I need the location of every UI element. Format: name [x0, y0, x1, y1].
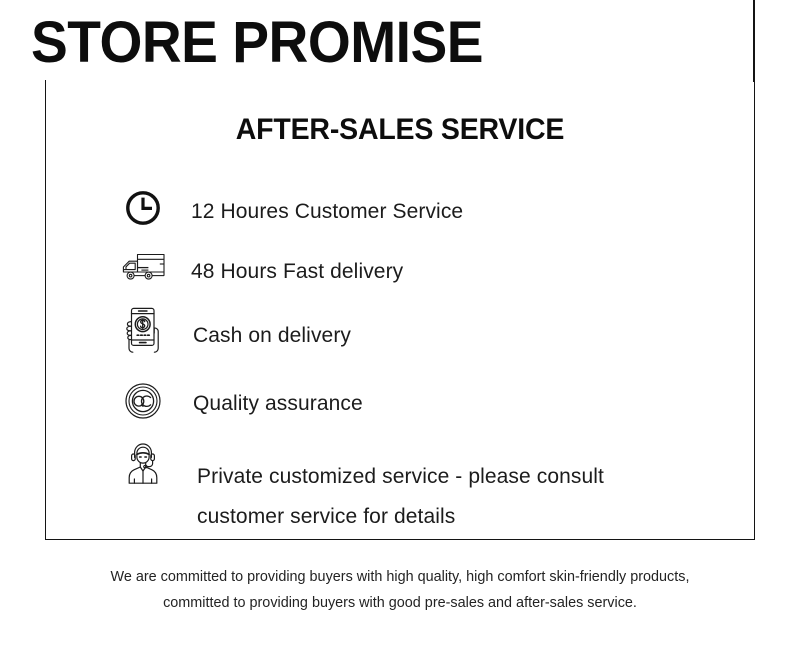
- store-promise-banner: STORE PROMISE AFTER-SALES SERVICE 12 Hou…: [0, 0, 800, 670]
- footer-note: We are committed to providing buyers wit…: [74, 564, 727, 616]
- footer-line-2: committed to providing buyers with good …: [74, 590, 727, 616]
- list-item-label: Cash on delivery: [193, 315, 351, 356]
- list-item-label: Private customized service - please cons…: [197, 457, 604, 537]
- quality-control-badge-icon: [115, 381, 171, 421]
- page-title: STORE PROMISE: [31, 10, 483, 76]
- list-item-label: 48 Hours Fast delivery: [191, 251, 403, 292]
- frame-right-edge-extension: [753, 0, 755, 82]
- customer-support-agent-icon: [115, 438, 171, 488]
- list-item-label: Quality assurance: [193, 383, 363, 424]
- cash-on-delivery-icon: [115, 306, 171, 356]
- list-item-label: 12 Houres Customer Service: [191, 191, 463, 232]
- clock-icon: [115, 189, 171, 227]
- footer-line-1: We are committed to providing buyers wit…: [74, 564, 727, 590]
- delivery-truck-icon: [115, 250, 171, 284]
- section-title: AFTER-SALES SERVICE: [63, 111, 738, 149]
